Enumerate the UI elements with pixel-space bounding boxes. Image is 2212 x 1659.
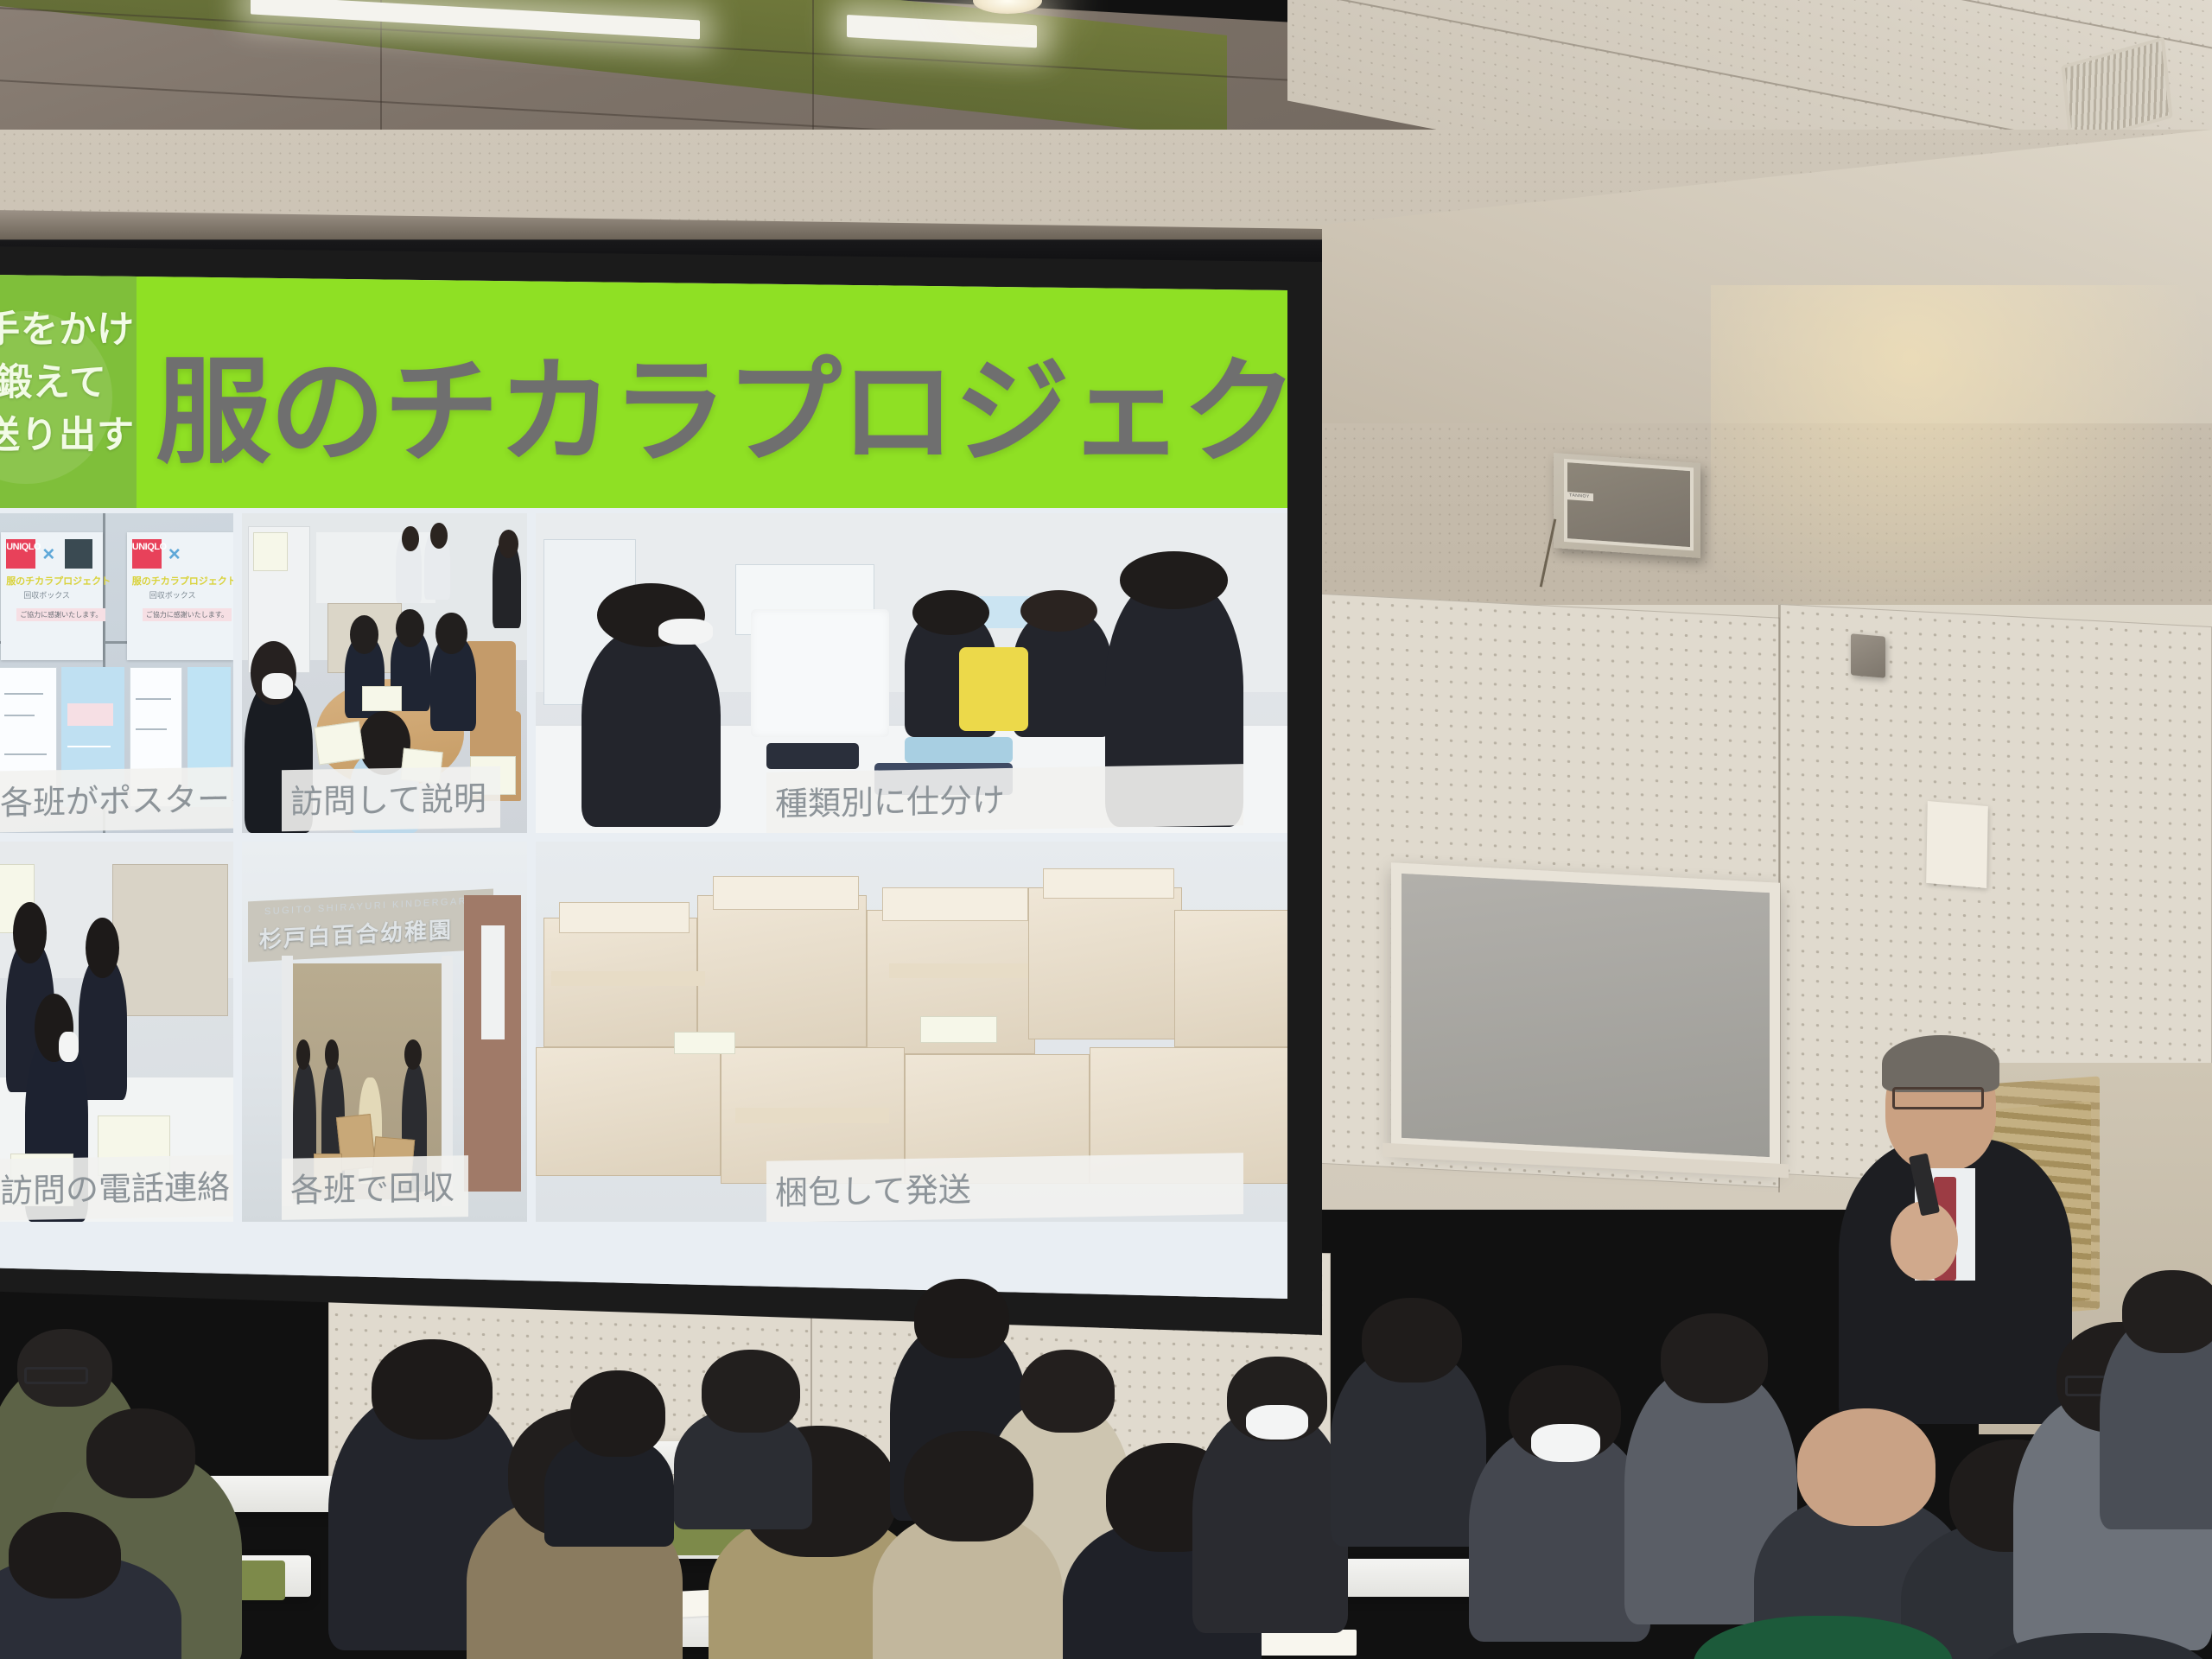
motto-line-2: 鍛えて — [0, 357, 138, 410]
small-wall-speaker — [1851, 633, 1885, 677]
wall-light-glow — [1711, 285, 2212, 648]
slide-photo-visit: 訪問して説明 — [242, 513, 527, 833]
face-mask — [1531, 1424, 1600, 1462]
audience-person-head — [9, 1512, 121, 1599]
photo-caption: 種類別に仕分け — [766, 764, 1243, 833]
audience-person-head — [1020, 1350, 1115, 1433]
slide-title: 服のチカラプロジェクト — [156, 318, 1287, 486]
poster-headline: 服のチカラプロジェクト — [6, 574, 111, 588]
uniqlo-logo: UNIQLO — [132, 539, 162, 569]
presentation-photo-scene: TANNOY 手をかけ 鍛えて 送り出す 服のチカラプロジェクト — [0, 0, 2212, 1659]
donated-shirt — [751, 609, 889, 737]
audience-person-head — [1661, 1313, 1768, 1403]
photo-caption: 各班がポスターを作製 — [0, 765, 233, 832]
audience-person-head — [2122, 1270, 2212, 1353]
slide-photo-sorting: 種類別に仕分け — [536, 513, 1287, 833]
slide-photo-posters: UNIQLO × 服のチカラプロジェクト 回収ボックス ご協力に感謝いたします。… — [0, 513, 233, 833]
wall-notice-sheet — [1926, 801, 1988, 888]
whiteboard — [1391, 862, 1780, 1168]
audience-person-head — [904, 1431, 1033, 1541]
audience-person-head — [1362, 1298, 1462, 1382]
face-mask — [1246, 1405, 1308, 1440]
poster-note: ご協力に感謝いたします。 — [143, 608, 232, 621]
audience-person-head — [86, 1408, 195, 1498]
presenter-glasses — [1892, 1087, 1984, 1109]
speaker-grille — [1564, 459, 1694, 550]
cross-symbol: × — [42, 543, 54, 567]
motto-line-3: 送り出す — [0, 410, 138, 462]
photo-caption: 訪問して説明 — [282, 766, 500, 831]
motto-line-1: 手をかけ — [0, 304, 138, 357]
audience-person-head — [570, 1370, 665, 1457]
partner-logo — [65, 539, 92, 569]
poster-subline: 回収ボックス — [23, 589, 70, 601]
projected-slide: 手をかけ 鍛えて 送り出す 服のチカラプロジェクト UNIQLO × 服のチ — [0, 275, 1287, 1299]
poster-note: ご協力に感謝いたします。 — [16, 608, 105, 621]
uniqlo-logo: UNIQLO — [6, 539, 35, 569]
presenter-hair — [1882, 1035, 1999, 1092]
audience-person-head — [1797, 1408, 1935, 1526]
school-motto: 手をかけ 鍛えて 送り出す — [0, 304, 138, 462]
donated-yellow-garment — [959, 647, 1028, 730]
wall-speaker: TANNOY — [1554, 453, 1700, 558]
poster-headline: 服のチカラプロジェクト — [132, 574, 233, 588]
audience-person — [1192, 1408, 1348, 1633]
cross-symbol: × — [168, 543, 181, 567]
slide-header: 手をかけ 鍛えて 送り出す 服のチカラプロジェクト — [0, 275, 1287, 508]
audience-glasses — [24, 1367, 88, 1384]
audience-person-head — [914, 1279, 1009, 1358]
audience-area — [0, 1149, 2212, 1659]
audience-person-head — [372, 1339, 493, 1440]
audience-person-head — [702, 1350, 800, 1433]
poster-subline: 回収ボックス — [149, 589, 196, 601]
